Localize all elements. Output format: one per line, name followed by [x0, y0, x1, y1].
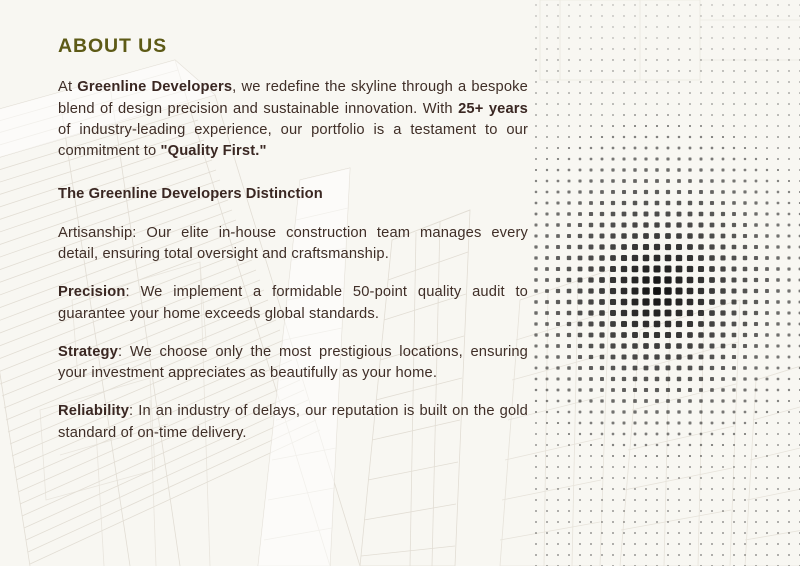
lead-text-1: At	[58, 79, 77, 95]
item-body-reliability: : In an industry of delays, our reputati…	[58, 403, 528, 440]
lead-bold-company: Greenline Developers	[77, 79, 232, 95]
item-label-artisanship: Artisanship:	[58, 225, 137, 241]
page-title: ABOUT US	[58, 36, 528, 57]
item-label-precision: Precision	[58, 284, 125, 300]
halftone-dot-gradient	[530, 0, 800, 566]
about-content: ABOUT US At Greenline Developers, we red…	[58, 36, 528, 444]
list-item: Artisanship: Our elite in-house construc…	[58, 223, 528, 266]
distinction-subheading: The Greenline Developers Distinction	[58, 184, 528, 205]
list-item: Precision: We implement a formidable 50-…	[58, 282, 528, 325]
about-us-page: ABOUT US At Greenline Developers, we red…	[0, 0, 800, 566]
list-item: Strategy: We choose only the most presti…	[58, 342, 528, 385]
item-label-reliability: Reliability	[58, 403, 129, 419]
lead-text-3: of industry-leading experience, our port…	[58, 122, 528, 159]
lead-paragraph: At Greenline Developers, we redefine the…	[58, 77, 528, 162]
item-body-strategy: : We choose only the most prestigious lo…	[58, 344, 528, 381]
lead-bold-years: 25+ years	[458, 101, 528, 117]
item-body-precision: : We implement a formidable 50-point qua…	[58, 284, 528, 321]
list-item: Reliability: In an industry of delays, o…	[58, 401, 528, 444]
item-label-strategy: Strategy	[58, 344, 118, 360]
lead-bold-quality-first: "Quality First."	[161, 143, 267, 159]
